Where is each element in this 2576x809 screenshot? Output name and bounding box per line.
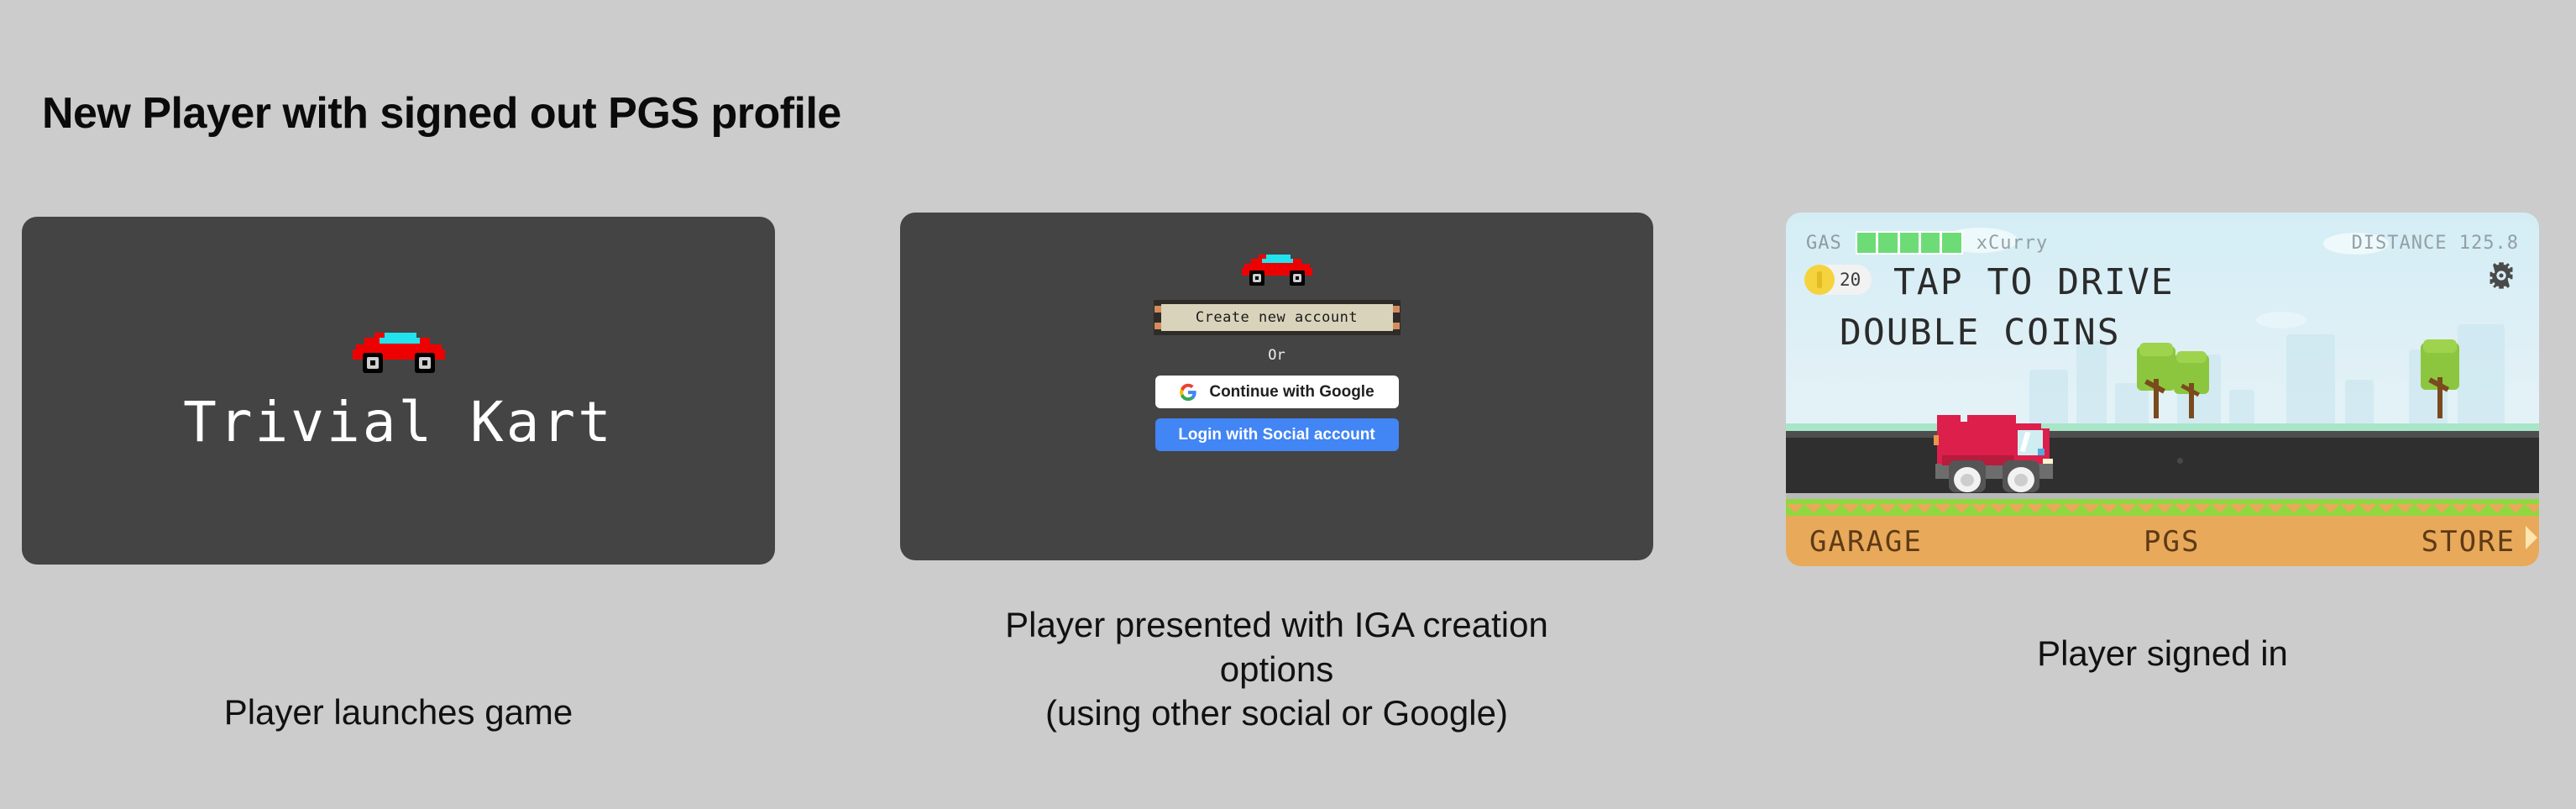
caption-line: Player presented with IGA creation — [900, 603, 1653, 648]
horizon-grass-strip — [1786, 423, 2539, 431]
button-corner-nub — [1154, 306, 1161, 313]
game-title: Trivial Kart — [183, 390, 614, 454]
player-username: xCurry — [1977, 233, 2048, 254]
google-logo-icon — [1179, 383, 1197, 402]
button-corner-nub — [1393, 323, 1400, 329]
continue-with-google-button[interactable]: Continue with Google — [1155, 376, 1399, 408]
red-pixel-car-icon — [1242, 251, 1312, 286]
login-with-social-account-label: Login with Social account — [1178, 426, 1374, 444]
tap-to-drive-prompt: TAP TO DRIVE — [1893, 261, 2175, 303]
create-new-account-label: Create new account — [1196, 309, 1358, 326]
panel-auth-screen: Create new account Or Continue with Goog… — [900, 213, 1653, 560]
road-surface — [1786, 431, 2539, 499]
tree-sprite — [2174, 355, 2209, 418]
hud-top-bar: GAS xCurry DISTANCE 125.8 — [1806, 231, 2519, 255]
or-separator-label: Or — [1268, 347, 1285, 364]
tree-sprite — [2137, 346, 2175, 418]
create-new-account-button[interactable]: Create new account — [1161, 300, 1393, 335]
tree-sprite — [2421, 343, 2459, 418]
gas-meter — [1856, 231, 1963, 255]
panel-game-screen: GAS xCurry DISTANCE 125.8 20 TAP TO DRIV… — [1786, 213, 2539, 566]
game-bottom-nav: GARAGE PGS STORE — [1786, 521, 2539, 563]
page-title: New Player with signed out PGS profile — [42, 88, 841, 139]
game-scene[interactable]: GAS xCurry DISTANCE 125.8 20 TAP TO DRIV… — [1786, 213, 2539, 566]
red-pixel-truck-icon — [1934, 412, 2100, 492]
caption-panel-2: Player presented with IGA creation optio… — [900, 603, 1653, 736]
nav-right-arrow-icon[interactable] — [2526, 526, 2537, 549]
button-corner-nub — [1154, 323, 1161, 329]
panel-splash-screen: Trivial Kart — [22, 217, 775, 565]
gear-icon[interactable] — [2487, 261, 2516, 290]
coin-badge: 20 — [1804, 265, 1872, 295]
nav-item-pgs[interactable]: PGS — [2144, 525, 2200, 559]
caption-panel-1: Player launches game — [22, 691, 775, 735]
nav-item-store[interactable]: STORE — [2422, 525, 2516, 559]
double-coins-prompt: DOUBLE COINS — [1840, 312, 2121, 354]
dirt-zigzag-pattern — [1786, 504, 2539, 523]
gas-label: GAS — [1806, 233, 1842, 254]
caption-panel-3: Player signed in — [1786, 632, 2539, 676]
red-pixel-car-icon — [353, 328, 445, 375]
diagram-canvas: New Player with signed out PGS profile — [0, 0, 2576, 809]
distance-readout: DISTANCE 125.8 — [2352, 233, 2519, 254]
coin-count: 20 — [1840, 270, 1861, 290]
button-corner-nub — [1393, 306, 1400, 313]
continue-with-google-label: Continue with Google — [1209, 383, 1374, 402]
nav-item-garage[interactable]: GARAGE — [1809, 525, 1923, 559]
caption-line: options — [900, 648, 1653, 692]
caption-line: (using other social or Google) — [900, 691, 1653, 736]
coin-icon — [1804, 265, 1835, 295]
login-with-social-account-button[interactable]: Login with Social account — [1155, 418, 1399, 451]
